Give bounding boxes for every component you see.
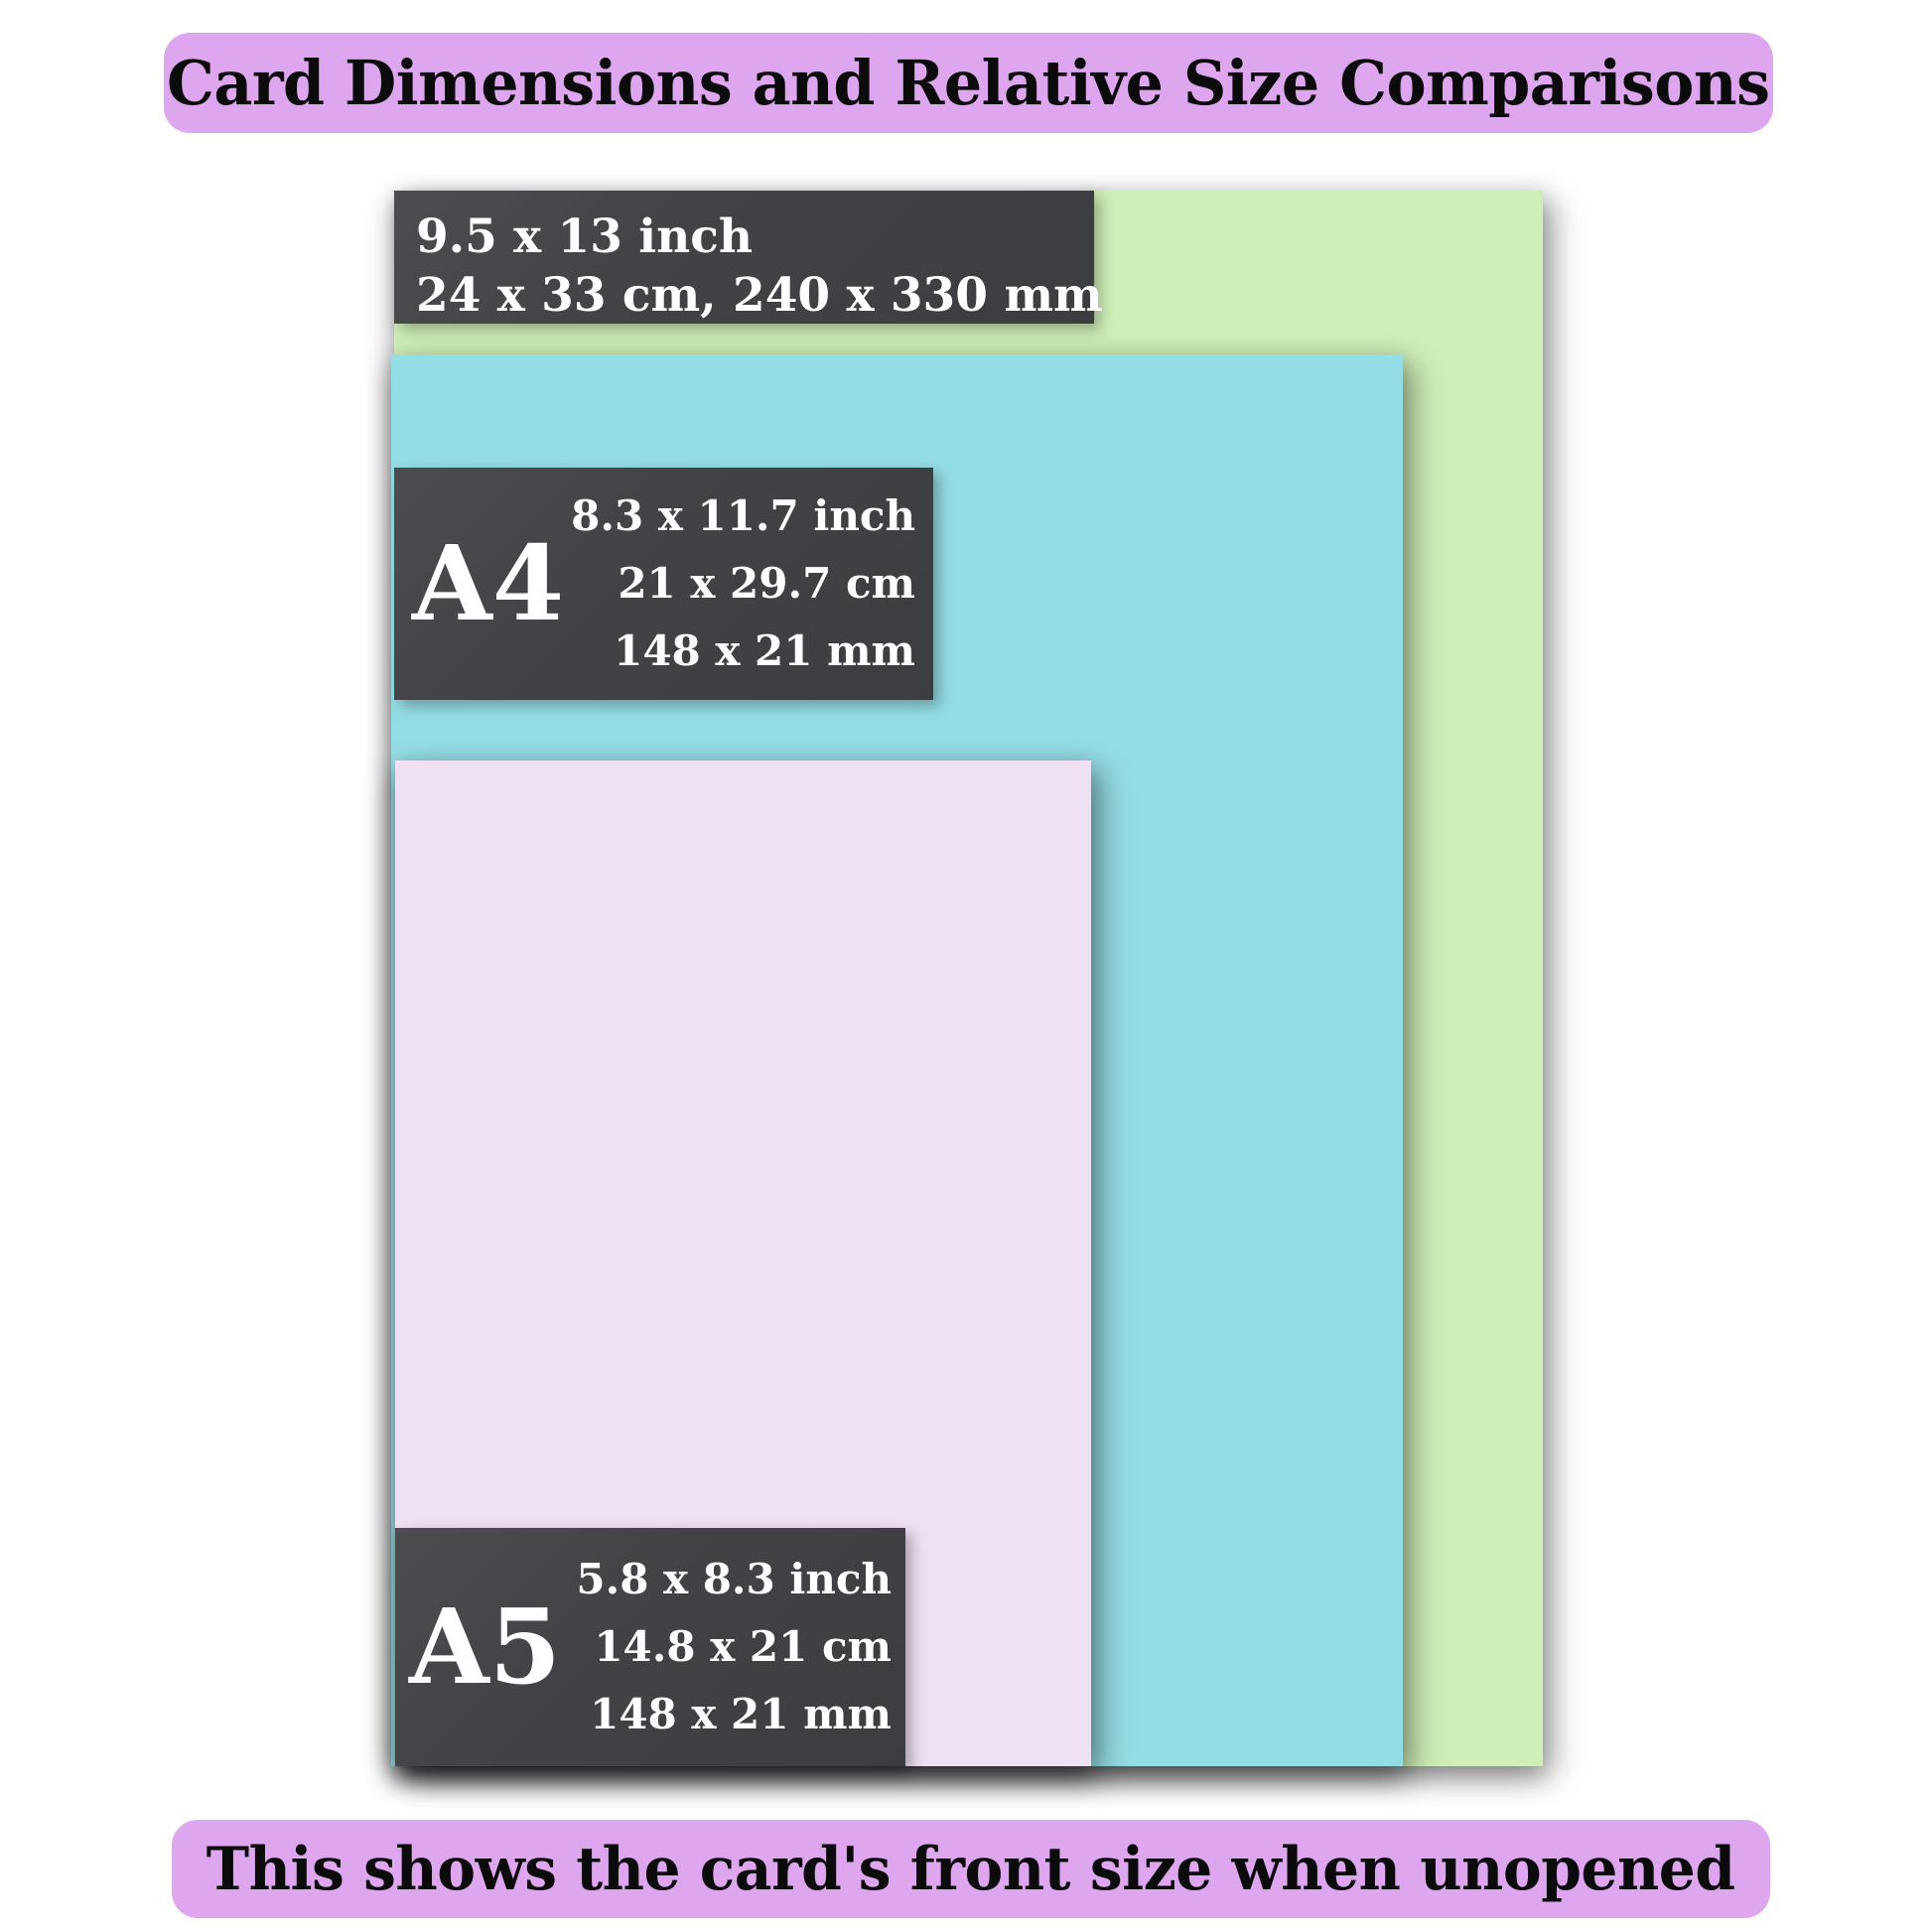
dimension-plate-9-5x13: 9.5 x 13 inch 24 x 33 cm, 240 x 330 mm: [394, 191, 1094, 324]
dimension-line-mm: 148 x 21 mm: [614, 630, 915, 672]
dimension-lines-a4: 8.3 x 11.7 inch 21 x 29.7 cm 148 x 21 mm: [571, 495, 933, 672]
dimension-line-metric: 24 x 33 cm, 240 x 330 mm: [416, 272, 1103, 319]
dimension-lines-a5: 5.8 x 8.3 inch 14.8 x 21 cm 148 x 21 mm: [558, 1559, 905, 1735]
dimension-line-inch: 8.3 x 11.7 inch: [571, 495, 915, 537]
dimension-plate-a5: A5 5.8 x 8.3 inch 14.8 x 21 cm 148 x 21 …: [395, 1528, 905, 1766]
dimension-line-cm: 21 x 29.7 cm: [618, 563, 915, 605]
footer-note: This shows the card's front size when un…: [207, 1835, 1735, 1904]
size-code-a4: A4: [394, 532, 571, 635]
dimension-line-mm: 148 x 21 mm: [590, 1694, 892, 1735]
page-title: Card Dimensions and Relative Size Compar…: [167, 47, 1770, 119]
dimension-line-inch: 9.5 x 13 inch: [416, 213, 753, 260]
size-code-a5: A5: [395, 1595, 558, 1699]
footer-note-banner: This shows the card's front size when un…: [172, 1820, 1770, 1918]
dimension-line-inch: 5.8 x 8.3 inch: [576, 1559, 892, 1600]
dimension-line-cm: 14.8 x 21 cm: [594, 1626, 892, 1668]
page-title-banner: Card Dimensions and Relative Size Compar…: [164, 33, 1773, 133]
dimension-plate-a4: A4 8.3 x 11.7 inch 21 x 29.7 cm 148 x 21…: [394, 468, 933, 700]
